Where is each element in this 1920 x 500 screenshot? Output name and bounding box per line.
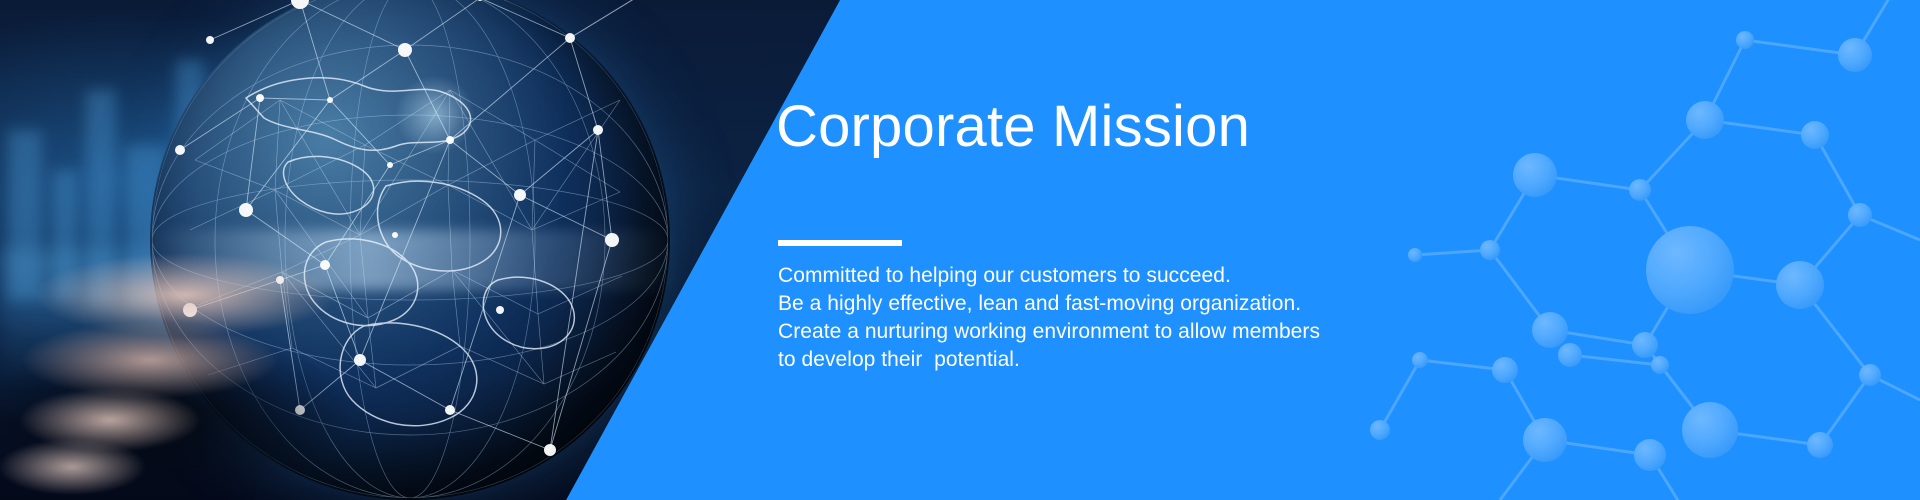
mission-statement-list: Committed to helping our customers to su… bbox=[778, 262, 1418, 374]
mission-statement-line: to develop their potential. bbox=[778, 346, 1418, 374]
title-divider bbox=[778, 240, 902, 246]
mission-statement-line: Create a nurturing working environment t… bbox=[778, 318, 1418, 346]
page-title: Corporate Mission bbox=[776, 95, 1250, 159]
banner-content: Corporate Mission Committed to helping o… bbox=[776, 0, 1476, 500]
hand-photo bbox=[0, 235, 430, 500]
corporate-mission-banner: Corporate Mission Committed to helping o… bbox=[0, 0, 1920, 500]
mission-statement-line: Committed to helping our customers to su… bbox=[778, 262, 1418, 290]
mission-statement-line: Be a highly effective, lean and fast-mov… bbox=[778, 290, 1418, 318]
